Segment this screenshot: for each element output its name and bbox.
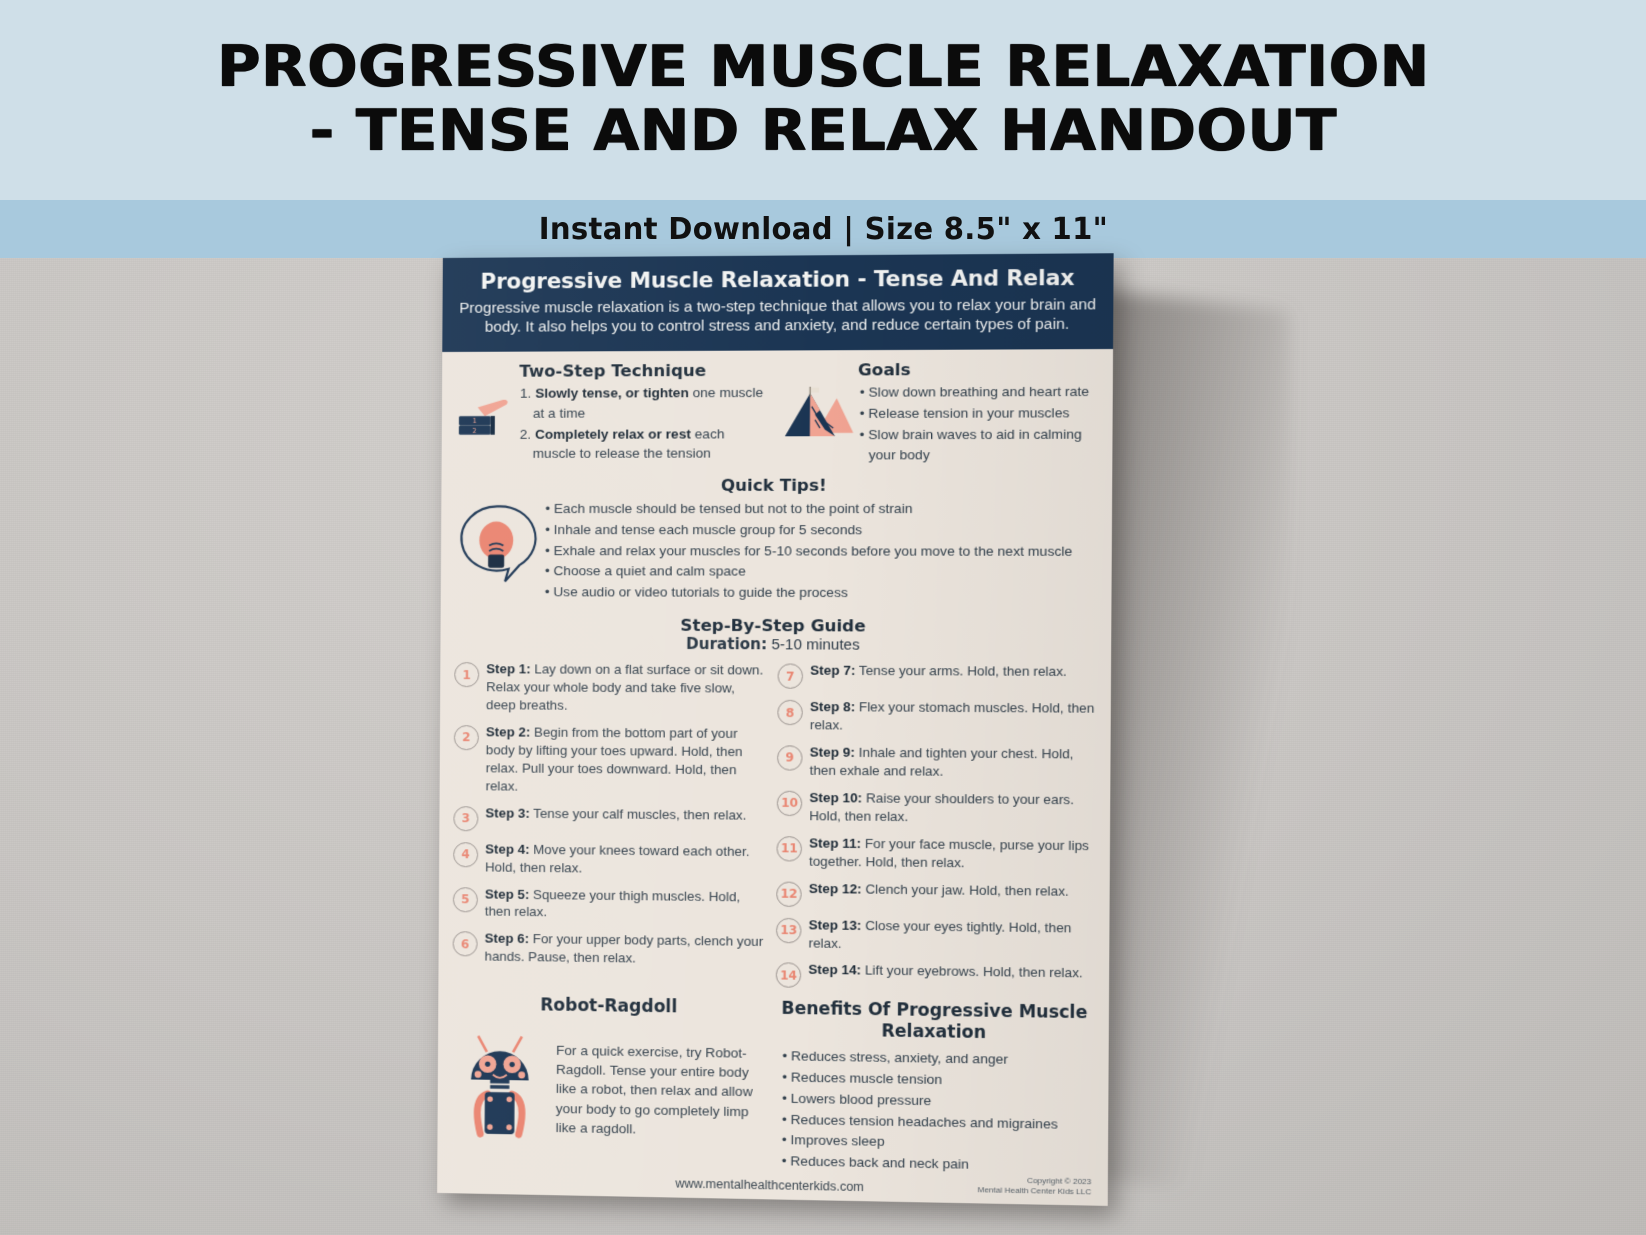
screenshot-stage: PROGRESSIVE MUSCLE RELAXATION - TENSE AN… <box>0 0 1646 1235</box>
step-number-badge: 7 <box>778 664 804 689</box>
poster-title: Progressive Muscle Relaxation - Tense An… <box>459 266 1097 295</box>
step-number-badge: 6 <box>453 932 478 957</box>
step-text: Step 2: Begin from the bottom part of yo… <box>486 723 768 797</box>
step-text: Step 4: Move your knees toward each othe… <box>485 840 766 879</box>
goals-section: Goals <box>778 359 1099 467</box>
step-guide-duration: Duration: 5-10 minutes <box>454 634 1096 655</box>
step-row: 9Step 9: Inhale and tighten your chest. … <box>777 743 1096 782</box>
step-label: Step 5: <box>485 886 529 902</box>
step-row: 1Step 1: Lay down on a flat surface or s… <box>454 660 767 716</box>
step-body: Tense your arms. Hold, then relax. <box>855 663 1067 679</box>
step-text: Step 1: Lay down on a flat surface or si… <box>486 660 768 716</box>
copyright-notice: Copyright © 2023 Mental Health Center Ki… <box>978 1175 1092 1197</box>
list-item: 1. Slowly tense, or tighten one muscle a… <box>520 383 770 424</box>
step-label: Step 11: <box>809 835 861 851</box>
step-label: Step 6: <box>485 931 529 947</box>
step-text: Step 12: Clench your jaw. Hold, then rel… <box>809 879 1069 900</box>
list-item: Slow down breathing and heart rate <box>860 382 1099 404</box>
step-row: 7Step 7: Tense your arms. Hold, then rel… <box>778 662 1097 691</box>
benefits-list: Reduces stress, anxiety, and anger Reduc… <box>774 1046 1095 1178</box>
step-text: Step 6: For your upper body parts, clenc… <box>484 930 765 970</box>
duration-value: 5-10 minutes <box>767 636 860 654</box>
step-label: Step 1: <box>486 661 530 676</box>
product-title-banner: PROGRESSIVE MUSCLE RELAXATION - TENSE AN… <box>0 0 1646 200</box>
stacked-steps-icon: 1 2 <box>456 396 514 447</box>
mountain-flag-icon <box>778 386 854 446</box>
goals-heading: Goals <box>778 359 1098 380</box>
step-body: Clench your jaw. Hold, then relax. <box>862 881 1069 898</box>
step-number-badge: 9 <box>777 745 803 770</box>
duration-label: Duration: <box>686 635 767 653</box>
step-text: Step 5: Squeeze your thigh muscles. Hold… <box>485 885 766 924</box>
step-number-badge: 13 <box>776 917 802 943</box>
step-label: Step 12: <box>809 880 862 896</box>
step-text: Step 13: Close your eyes tightly. Hold, … <box>808 916 1095 956</box>
product-meta-band: Instant Download | Size 8.5" x 11" <box>0 200 1646 258</box>
step-text: Step 8: Flex your stomach muscles. Hold,… <box>810 698 1097 736</box>
handout-poster: Progressive Muscle Relaxation - Tense An… <box>437 253 1113 1206</box>
quick-tips-list: Each muscle should be tensed but not to … <box>545 499 1073 605</box>
two-step-section: Two-Step Technique 1 2 <box>456 361 771 468</box>
step-text: Step 3: Tense your calf muscles, then re… <box>485 804 746 824</box>
poster-header: Progressive Muscle Relaxation - Tense An… <box>442 253 1113 352</box>
step-label: Step 10: <box>809 790 862 806</box>
list-item: 2. Completely relax or rest each muscle … <box>520 424 770 464</box>
step-row: 8Step 8: Flex your stomach muscles. Hold… <box>777 698 1096 736</box>
list-item: Exhale and relax your muscles for 5-10 s… <box>545 541 1072 563</box>
robot-icon <box>451 1021 548 1144</box>
step-number-badge: 12 <box>776 881 802 907</box>
step-row: 14Step 14: Lift your eyebrows. Hold, the… <box>776 961 1095 993</box>
step-label: Step 14: <box>808 962 861 978</box>
step-row: 11Step 11: For your face muscle, purse y… <box>776 834 1095 873</box>
list-item: Use audio or video tutorials to guide th… <box>545 582 1072 604</box>
intro-sections: Two-Step Technique 1 2 <box>456 359 1099 467</box>
two-step-2-num: 2. <box>520 426 531 441</box>
list-item: Choose a quiet and calm space <box>545 562 1072 584</box>
copyright-line-2: Mental Health Center Kids LLC <box>978 1185 1092 1197</box>
two-step-1-num: 1. <box>520 386 531 401</box>
step-label: Step 3: <box>485 805 529 820</box>
two-step-list: 1. Slowly tense, or tighten one muscle a… <box>520 383 771 465</box>
quick-tips-heading: Quick Tips! <box>455 475 1097 495</box>
benefits-heading: Benefits Of Progressive Muscle Relaxatio… <box>774 999 1094 1045</box>
two-step-1-bold: Slowly tense, or tighten <box>535 385 689 401</box>
step-label: Step 8: <box>810 699 855 714</box>
goals-list: Slow down breathing and heart rate Relea… <box>859 382 1098 467</box>
step-number-badge: 8 <box>777 700 803 725</box>
step-number-badge: 14 <box>776 963 802 989</box>
steps-left-column: 1Step 1: Lay down on a flat surface or s… <box>452 660 767 997</box>
product-title-line-2: - TENSE AND RELAX HANDOUT <box>309 100 1336 164</box>
product-title-line-1: PROGRESSIVE MUSCLE RELAXATION <box>217 36 1430 100</box>
robot-ragdoll-section: Robot-Ragdoll <box>451 995 766 1172</box>
website-url: www.mentalhealthcenterkids.com <box>675 1176 864 1194</box>
steps-right-column: 7Step 7: Tense your arms. Hold, then rel… <box>776 662 1097 1002</box>
robot-ragdoll-heading: Robot-Ragdoll <box>452 995 766 1020</box>
step-guide-section: Step-By-Step Guide Duration: 5-10 minute… <box>452 615 1097 1001</box>
list-item: Each muscle should be tensed but not to … <box>545 499 1072 520</box>
step-text: Step 11: For your face muscle, purse you… <box>809 834 1096 873</box>
list-item: Release tension in your muscles <box>860 403 1099 425</box>
list-item: Reduces back and neck pain <box>782 1151 1094 1178</box>
list-item: Inhale and tense each muscle group for 5… <box>545 520 1072 541</box>
step-text: Step 9: Inhale and tighten your chest. H… <box>810 743 1097 781</box>
step-label: Step 2: <box>486 724 530 739</box>
poster-subtitle: Progressive muscle relaxation is a two-s… <box>458 296 1096 338</box>
list-item: Slow brain waves to aid in calming your … <box>859 424 1098 467</box>
step-row: 10Step 10: Raise your shoulders to your … <box>777 788 1096 827</box>
step-text: Step 14: Lift your eyebrows. Hold, then … <box>808 961 1083 983</box>
bottom-sections: Robot-Ragdoll <box>451 995 1094 1179</box>
step-label: Step 9: <box>810 744 855 759</box>
step-row: 2Step 2: Begin from the bottom part of y… <box>454 723 768 797</box>
step-guide-heading: Step-By-Step Guide <box>455 615 1097 636</box>
step-label: Step 13: <box>809 917 862 933</box>
step-body: Lift your eyebrows. Hold, then relax. <box>861 963 1083 981</box>
step-body: Tense your calf muscles, then relax. <box>530 805 747 822</box>
poster-body: Two-Step Technique 1 2 <box>437 349 1113 1179</box>
step-number-badge: 3 <box>453 806 478 831</box>
step-number-badge: 11 <box>776 836 802 861</box>
step-number-badge: 4 <box>453 842 478 867</box>
step-text: Step 10: Raise your shoulders to your ea… <box>809 789 1096 828</box>
step-number-badge: 1 <box>454 662 479 687</box>
lightbulb-speech-bubble-icon <box>455 501 542 588</box>
step-number-badge: 5 <box>453 887 478 912</box>
product-meta-text: Instant Download | Size 8.5" x 11" <box>538 212 1107 247</box>
step-text: Step 7: Tense your arms. Hold, then rela… <box>810 662 1067 681</box>
poster-drop-shadow <box>1095 289 1290 1200</box>
poster-wrapper: Progressive Muscle Relaxation - Tense An… <box>440 258 1120 1198</box>
step-row: 13Step 13: Close your eyes tightly. Hold… <box>776 915 1095 955</box>
step-number-badge: 2 <box>454 725 479 750</box>
step-row: 5Step 5: Squeeze your thigh muscles. Hol… <box>453 885 766 925</box>
step-label: Step 7: <box>810 663 855 678</box>
step-number-badge: 10 <box>777 790 803 815</box>
step-row: 4Step 4: Move your knees toward each oth… <box>453 840 766 879</box>
step-row: 12Step 12: Clench your jaw. Hold, then r… <box>776 879 1095 910</box>
svg-text:1: 1 <box>473 417 477 425</box>
step-row: 6Step 6: For your upper body parts, clen… <box>453 930 766 970</box>
svg-text:2: 2 <box>473 426 477 434</box>
step-row: 3Step 3: Tense your calf muscles, then r… <box>453 804 766 834</box>
quick-tips-section: Quick Tips! Each muscle should be tensed… <box>455 475 1098 604</box>
robot-ragdoll-text: For a quick exercise, try Robot-Ragdoll.… <box>556 1023 767 1142</box>
step-label: Step 4: <box>485 841 529 856</box>
poster-footer: www.mentalhealthcenterkids.com Copyright… <box>437 1172 1108 1199</box>
two-step-heading: Two-Step Technique <box>456 361 770 381</box>
two-step-2-bold: Completely relax or rest <box>535 426 691 441</box>
benefits-section: Benefits Of Progressive Muscle Relaxatio… <box>774 999 1095 1178</box>
